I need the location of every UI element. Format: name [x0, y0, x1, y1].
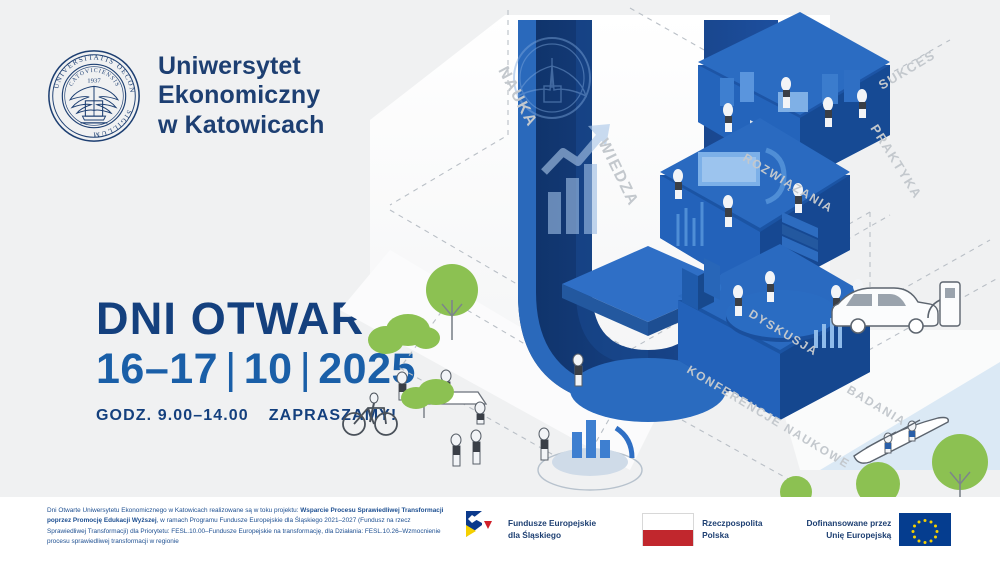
- logo-fundusze-europejskie: Fundusze Europejskie dla Śląskiego: [462, 509, 596, 550]
- project-funding-note: Dni Otwarte Uniwersytetu Ekonomicznego w…: [47, 506, 447, 548]
- funding-note-part-1: Dni Otwarte Uniwersytetu Ekonomicznego w…: [47, 507, 300, 514]
- svg-text:SIGILLUM: SIGILLUM: [92, 109, 134, 139]
- university-brand: UNIVERSITATIS OECONOMICAE SIGILLUM CATOV…: [46, 48, 325, 144]
- electric-car-icon: [832, 288, 938, 333]
- ue-label-1: Dofinansowane przez: [806, 518, 891, 528]
- bicycle-icon: [343, 393, 397, 435]
- date-day: 16–17: [96, 345, 218, 393]
- fundusze-europejskie-star-icon: [462, 509, 500, 550]
- poster-root: UNIVERSITATIS OECONOMICAE SIGILLUM CATOV…: [0, 0, 1000, 562]
- eu-flag-icon: [899, 513, 951, 546]
- brand-line-2: Ekonomiczny: [158, 81, 325, 110]
- brand-line-1: Uniwersytet: [158, 52, 325, 81]
- date-month: 10: [244, 345, 293, 393]
- date-separator-2: |: [300, 345, 312, 393]
- logo-dofinansowane-label: Dofinansowane przez Unię Europejską: [806, 518, 891, 540]
- logo-rzeczpospolita-label: Rzeczpospolita Polska: [702, 518, 762, 540]
- logo-rzeczpospolita-polska: Rzeczpospolita Polska: [642, 513, 762, 546]
- rp-label-2: Polska: [702, 530, 729, 540]
- university-crest-icon: UNIVERSITATIS OECONOMICAE SIGILLUM CATOV…: [46, 48, 142, 144]
- ue-label-2: Unię Europejską: [826, 530, 891, 540]
- date-separator-1: |: [225, 345, 237, 393]
- event-hours: GODZ. 9.00–14.00: [96, 407, 249, 425]
- svg-text:1937: 1937: [87, 78, 101, 85]
- footer-bar: Dni Otwarte Uniwersytetu Ekonomicznego w…: [0, 497, 1000, 562]
- label-praktyka: PRAKTYKA: [867, 122, 925, 202]
- logo-fundusze-europejskie-label: Fundusze Europejskie dla Śląskiego: [508, 518, 596, 540]
- rp-label-1: Rzeczpospolita: [702, 518, 762, 528]
- logo-dofinansowane-ue: Dofinansowane przez Unię Europejską: [806, 513, 951, 546]
- polish-flag-icon: [642, 513, 694, 546]
- brand-line-3: w Katowicach: [158, 111, 325, 140]
- funding-logos: Fundusze Europejskie dla Śląskiego Rzecz…: [462, 497, 1000, 562]
- fe-label-2: dla Śląskiego: [508, 530, 561, 540]
- fe-label-1: Fundusze Europejskie: [508, 518, 596, 528]
- isometric-campus-illustration: %: [330, 0, 1000, 500]
- university-name: Uniwersytet Ekonomiczny w Katowicach: [158, 52, 325, 140]
